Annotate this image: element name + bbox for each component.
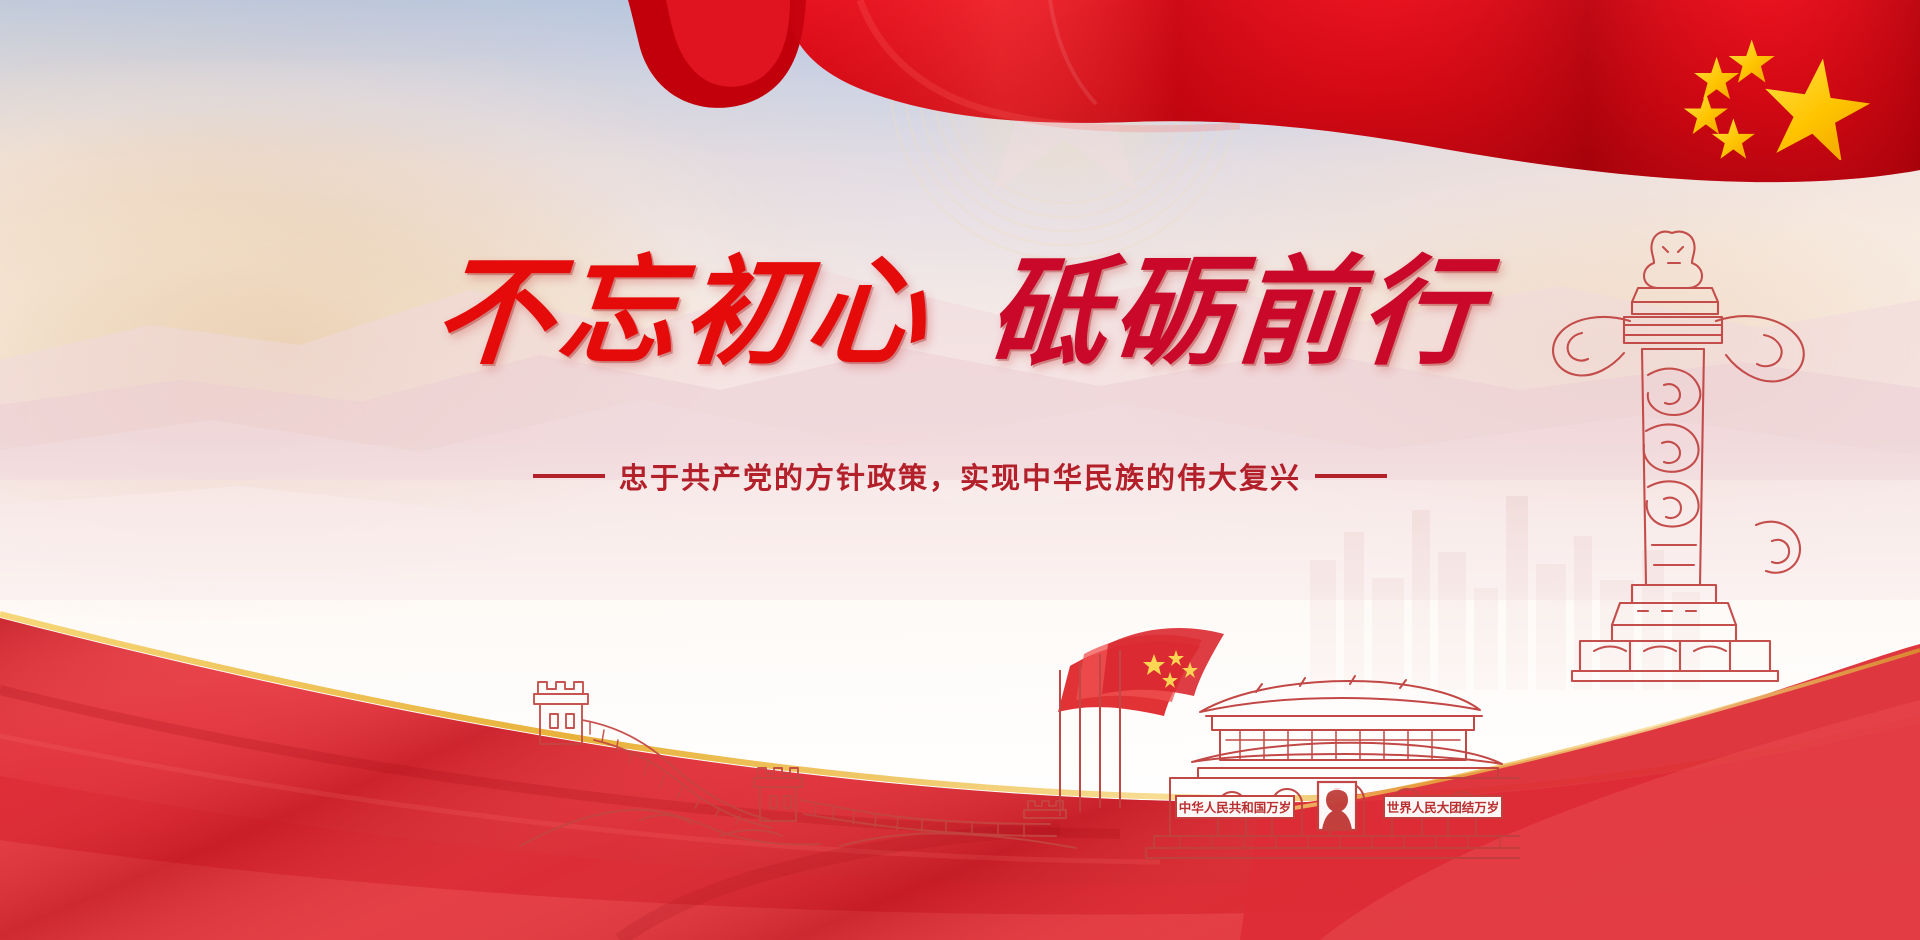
gate-banner-left: 中华人民共和国万岁 — [1176, 796, 1294, 818]
subtitle-row: 忠于共产党的方针政策，实现中华民族的伟大复兴 — [533, 455, 1387, 497]
subtitle-text: 忠于共产党的方针政策，实现中华民族的伟大复兴 — [619, 455, 1301, 497]
headline-block: 不忘初心砥砺前行 — [0, 248, 1920, 375]
bottom-red-ribbon — [0, 540, 1920, 940]
gate-banner-left-text: 中华人民共和国万岁 — [1179, 800, 1292, 815]
top-red-flag-drape — [0, 0, 1920, 240]
subtitle-right-rule — [1315, 474, 1387, 478]
subtitle-block: 忠于共产党的方针政策，实现中华民族的伟大复兴 — [0, 455, 1920, 497]
sky-gradient-wash — [0, 0, 1920, 230]
headline-segment-2: 砥砺前行 — [983, 242, 1491, 381]
headline-text: 不忘初心砥砺前行 — [429, 248, 1490, 375]
great-wall-icon — [520, 660, 1080, 850]
gate-banner-right: 世界人民大团结万岁 — [1384, 796, 1502, 818]
tiananmen-gate-icon: 中华人民共和国万岁 世界人民大团结万岁 — [1050, 620, 1520, 880]
poster-canvas: 不忘初心砥砺前行 忠于共产党的方针政策，实现中华民族的伟大复兴 — [0, 0, 1920, 940]
gate-banner-right-text: 世界人民大团结万岁 — [1387, 800, 1500, 815]
gate-portrait — [1318, 782, 1356, 830]
headline-segment-1: 不忘初心 — [429, 242, 937, 381]
prc-flag-stars — [1668, 10, 1898, 160]
gate-flags — [1058, 628, 1224, 816]
subtitle-left-rule — [533, 474, 605, 478]
bottom-mist-wash — [0, 440, 1920, 820]
